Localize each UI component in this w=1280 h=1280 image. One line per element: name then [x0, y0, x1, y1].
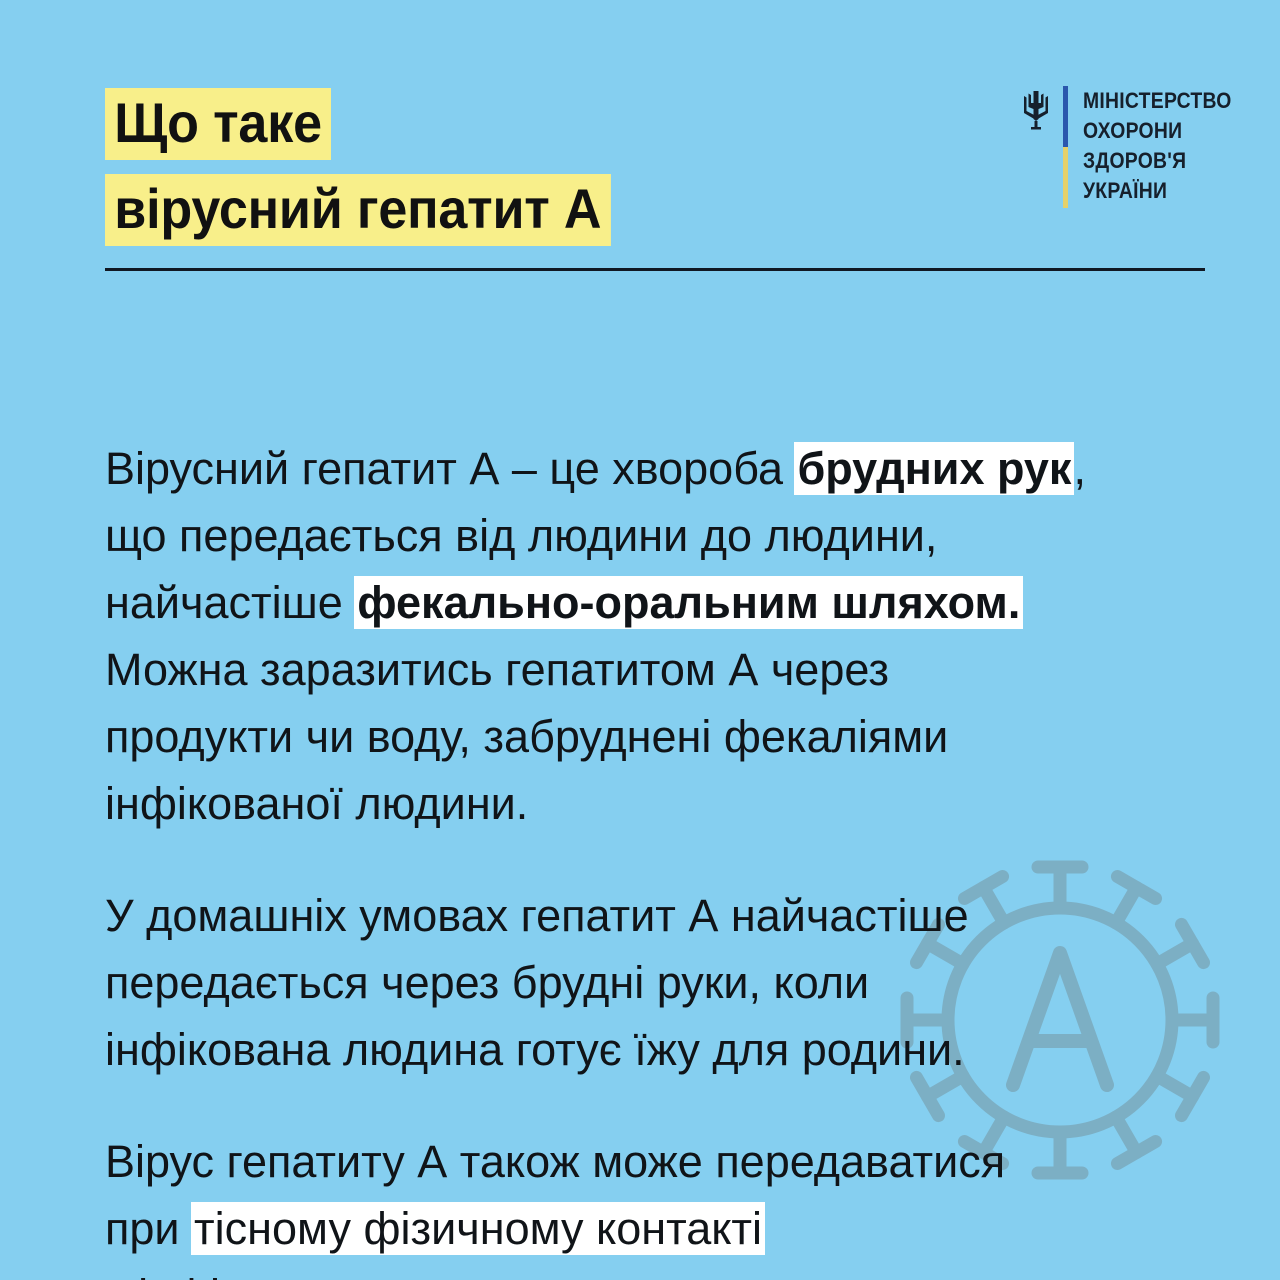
logo-text-line-3: ЗДОРОВ'Я	[1083, 146, 1232, 176]
text-run: з інфікованою людиною.	[105, 1270, 616, 1280]
text-run: інфікованої людини.	[105, 778, 528, 829]
ministry-logo-text: МІНІСТЕРСТВО ОХОРОНИ ЗДОРОВ'Я УКРАЇНИ	[1083, 86, 1252, 206]
text-run: Вірусний гепатит А – це хвороба	[105, 443, 795, 494]
text-run: інфікована людина готує їжу для родини.	[105, 1024, 965, 1075]
text-run: ,	[1073, 443, 1086, 494]
infographic-poster: Що таке вірусний гепатит А МІНІСТЕРСТВО …	[0, 0, 1280, 1280]
paragraph-2: У домашніх умовах гепатит А найчастішепе…	[105, 882, 1115, 1083]
text-run: при	[105, 1203, 192, 1254]
logo-divider-bar	[1063, 86, 1068, 208]
highlighted-text-run: тісному фізичному контакті	[192, 1203, 764, 1254]
text-run: У домашніх умовах гепатит А найчастіше	[105, 890, 969, 941]
text-run: що передається від людини до людини,	[105, 510, 937, 561]
highlighted-text-run: брудних рук	[795, 443, 1073, 494]
header-divider-rule	[105, 268, 1205, 271]
logo-text-line-1: МІНІСТЕРСТВО	[1083, 86, 1232, 116]
text-run: продукти чи воду, забруднені фекаліями	[105, 711, 948, 762]
text-run: найчастіше	[105, 577, 355, 628]
ministry-of-health-logo: МІНІСТЕРСТВО ОХОРОНИ ЗДОРОВ'Я УКРАЇНИ	[1020, 86, 1252, 208]
ukrainian-trident-icon	[1020, 88, 1052, 132]
text-run: передається через брудні руки, коли	[105, 957, 869, 1008]
text-run: Можна заразитись гепатитом А через	[105, 644, 889, 695]
paragraph-3: Вірус гепатиту А також може передаватися…	[105, 1128, 1115, 1280]
poster-header: Що таке вірусний гепатит А МІНІСТЕРСТВО …	[0, 0, 1280, 280]
body-copy: Вірусний гепатит А – це хвороба брудних …	[105, 390, 1115, 1280]
page-title: Що таке вірусний гепатит А	[105, 88, 649, 246]
highlighted-text-run: фекально-оральним шляхом.	[355, 577, 1022, 628]
logo-text-line-2: ОХОРОНИ	[1083, 116, 1232, 146]
title-line-1: Що таке	[105, 88, 331, 160]
title-line-2: вірусний гепатит А	[105, 174, 611, 246]
text-run: Вірус гепатиту А також може передаватися	[105, 1136, 1005, 1187]
logo-text-line-4: УКРАЇНИ	[1083, 176, 1232, 206]
paragraph-1: Вірусний гепатит А – це хвороба брудних …	[105, 435, 1115, 837]
